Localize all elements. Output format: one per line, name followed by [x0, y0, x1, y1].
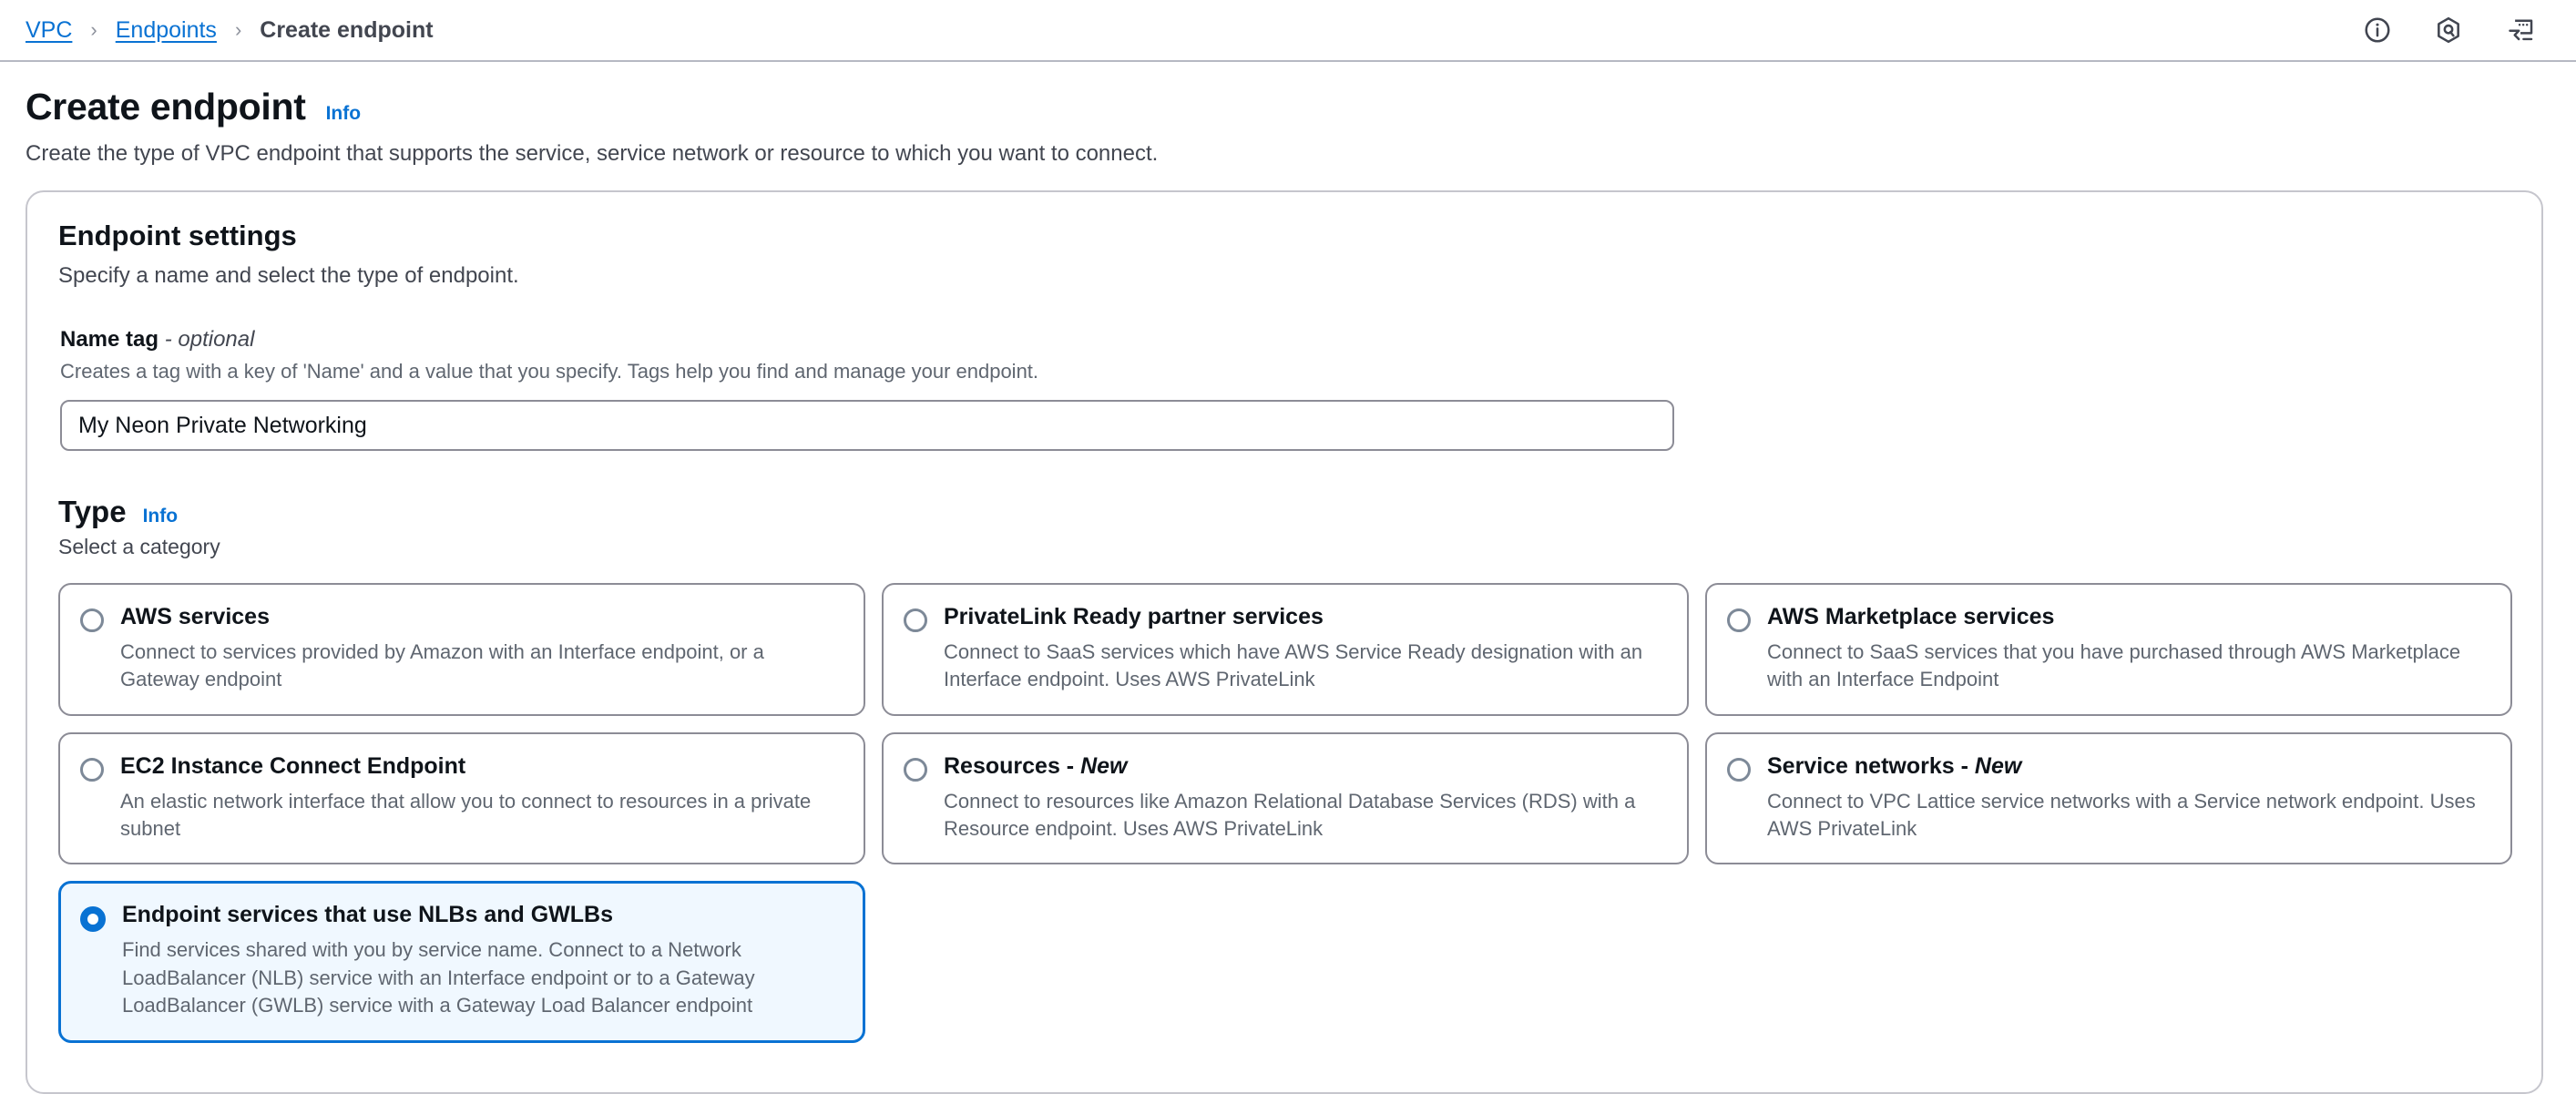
top-navigation-bar: VPC › Endpoints › Create endpoint [0, 0, 2576, 62]
type-info-link[interactable]: Info [143, 506, 178, 527]
breadcrumb-item-endpoints[interactable]: Endpoints [116, 17, 217, 44]
radio-button-icon[interactable] [1727, 758, 1751, 782]
name-tag-input[interactable] [60, 400, 1674, 451]
radio-card-resources[interactable]: Resources - New Connect to resources lik… [882, 732, 1689, 865]
radio-card-description: Find services shared with you by service… [122, 936, 843, 1019]
radio-card-title: PrivateLink Ready partner services [944, 603, 1667, 630]
endpoint-type-radio-group: AWS services Connect to services provide… [58, 583, 2510, 1043]
endpoint-settings-panel: Endpoint settings Specify a name and sel… [26, 190, 2543, 1094]
page-description: Create the type of VPC endpoint that sup… [26, 141, 2550, 167]
radio-button-icon[interactable] [80, 608, 104, 632]
name-tag-optional-suffix: - optional [165, 327, 255, 352]
breadcrumb-separator-icon: › [235, 20, 241, 40]
new-badge: New [1080, 753, 1127, 779]
name-tag-field-group: Name tag - optional Creates a tag with a… [58, 327, 2510, 451]
radio-card-ec2-instance-connect-endpoint[interactable]: EC2 Instance Connect Endpoint An elastic… [58, 732, 865, 865]
name-tag-label-text: Name tag [60, 327, 158, 352]
type-title: Type [58, 495, 127, 529]
endpoint-settings-title: Endpoint settings [58, 220, 2510, 252]
radio-card-title: AWS Marketplace services [1767, 603, 2490, 630]
aws-q-hexagon-icon[interactable] [2434, 15, 2463, 45]
page-header: Create endpoint Info Create the type of … [0, 62, 2576, 167]
radio-card-description: Connect to services provided by Amazon w… [120, 639, 843, 694]
breadcrumb: VPC › Endpoints › Create endpoint [26, 17, 434, 44]
endpoint-settings-description: Specify a name and select the type of en… [58, 263, 2510, 289]
page-info-link[interactable]: Info [326, 103, 361, 125]
cloudshell-terminal-icon[interactable] [2505, 15, 2536, 45]
radio-button-icon[interactable] [904, 608, 927, 632]
radio-button-icon[interactable] [80, 758, 104, 782]
type-section-header: Type Info [58, 495, 2510, 529]
radio-button-selected-icon[interactable] [80, 906, 106, 932]
top-bar-icon-group [2363, 15, 2536, 45]
radio-button-icon[interactable] [1727, 608, 1751, 632]
radio-card-title: Resources - New [944, 752, 1667, 780]
radio-card-title: Service networks - New [1767, 752, 2490, 780]
radio-card-title-text: Resources - [944, 753, 1080, 779]
info-circle-icon[interactable] [2363, 15, 2392, 45]
radio-card-description: An elastic network interface that allow … [120, 788, 843, 844]
radio-card-description: Connect to SaaS services which have AWS … [944, 639, 1667, 694]
radio-card-description: Connect to SaaS services that you have p… [1767, 639, 2490, 694]
radio-card-description: Connect to resources like Amazon Relatio… [944, 788, 1667, 844]
name-tag-hint: Creates a tag with a key of 'Name' and a… [60, 360, 2510, 383]
radio-card-description: Connect to VPC Lattice service networks … [1767, 788, 2490, 844]
radio-card-title: EC2 Instance Connect Endpoint [120, 752, 843, 780]
radio-card-service-networks[interactable]: Service networks - New Connect to VPC La… [1705, 732, 2512, 865]
radio-card-privatelink-ready-partner-services[interactable]: PrivateLink Ready partner services Conne… [882, 583, 1689, 716]
radio-card-aws-services[interactable]: AWS services Connect to services provide… [58, 583, 865, 716]
radio-button-icon[interactable] [904, 758, 927, 782]
breadcrumb-item-create-endpoint: Create endpoint [260, 17, 433, 44]
page-title: Create endpoint [26, 86, 306, 128]
breadcrumb-separator-icon: › [90, 20, 97, 40]
radio-card-title: AWS services [120, 603, 843, 630]
type-subtitle: Select a category [58, 535, 2510, 559]
radio-card-title: Endpoint services that use NLBs and GWLB… [122, 901, 843, 928]
breadcrumb-item-vpc[interactable]: VPC [26, 17, 72, 44]
radio-card-title-text: Service networks - [1767, 753, 1975, 779]
radio-card-aws-marketplace-services[interactable]: AWS Marketplace services Connect to SaaS… [1705, 583, 2512, 716]
new-badge: New [1975, 753, 2021, 779]
radio-card-endpoint-services-nlb-gwlb[interactable]: Endpoint services that use NLBs and GWLB… [58, 881, 865, 1043]
name-tag-label: Name tag - optional [60, 327, 2510, 353]
